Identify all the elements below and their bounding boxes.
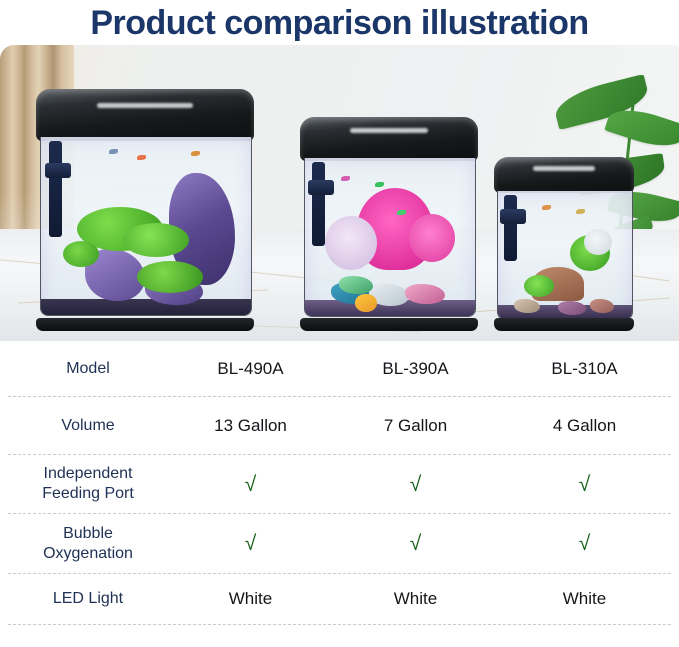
tank-coral-decor [325,216,377,270]
table-row: Independent Feeding Port √ √ √ [8,455,671,514]
row-value: White [333,588,498,609]
tank-glass [304,158,477,317]
row-value: BL-490A [168,358,333,379]
row-label-line1: Bubble [8,524,168,544]
row-check-icon: √ [498,474,671,495]
title-bar: Product comparison illustration [0,0,679,45]
row-value: 4 Gallon [498,415,671,436]
aquarium-bl-310a [494,157,634,335]
row-value: 13 Gallon [168,415,333,436]
tank-base [300,318,478,331]
tank-lid [494,157,634,193]
fish [191,151,200,156]
aquarium-bl-490a [36,89,254,335]
tank-plant-decor [123,223,189,257]
tank-pebble [405,284,445,304]
tank-starfish [339,276,373,294]
tank-starfish [355,294,377,312]
page-title: Product comparison illustration [90,6,588,40]
tank-plant-decor [524,275,554,297]
row-check-icon: √ [168,533,333,554]
fish [137,155,146,160]
row-label: Volume [8,416,168,436]
tank-coral-decor [409,214,455,262]
tank-filter [312,162,325,246]
tank-pebble [558,301,586,315]
tank-filter-head [500,209,526,224]
fish [542,205,551,210]
fish [397,210,406,215]
aquarium-bl-390a [300,117,478,335]
fish [576,209,585,214]
row-value: BL-390A [333,358,498,379]
tank-pebble [590,299,614,313]
row-value: BL-310A [498,358,671,379]
tank-pebble [514,299,540,313]
row-label: LED Light [8,589,168,609]
comparison-table: Model BL-490A BL-390A BL-310A Volume 13 … [0,341,679,625]
product-photo: BL-490A BL-390A BL-310A [0,45,679,341]
table-row: Bubble Oxygenation √ √ √ [8,514,671,574]
tank-glass [497,191,633,320]
row-check-icon: √ [333,533,498,554]
row-label-line2: Oxygenation [8,544,168,564]
tank-glass [40,137,251,316]
fish [341,176,350,181]
tank-filter-head [45,163,71,178]
tank-lid [300,117,478,161]
table-row: LED Light White White White [8,574,671,625]
row-check-icon: √ [333,474,498,495]
row-value: White [168,588,333,609]
table-row: Model BL-490A BL-390A BL-310A [8,341,671,397]
row-label: Model [8,359,168,379]
row-label: Independent Feeding Port [8,464,168,504]
row-check-icon: √ [168,474,333,495]
tank-filter-head [308,180,334,195]
tank-filter [49,141,62,237]
row-label-line1: Independent [8,464,168,484]
row-value: 7 Gallon [333,415,498,436]
tank-base [36,318,254,331]
row-value: White [498,588,671,609]
row-check-icon: √ [498,533,671,554]
tank-substrate [41,299,250,315]
fish [109,149,118,154]
row-label: Bubble Oxygenation [8,524,168,564]
fish [375,182,384,187]
tank-filter [504,195,517,261]
tank-coral-decor [584,229,612,255]
tank-base [494,318,634,331]
tank-lid [36,89,254,141]
table-row: Volume 13 Gallon 7 Gallon 4 Gallon [8,397,671,455]
tank-plant-decor [137,261,203,293]
row-label-line2: Feeding Port [8,484,168,504]
